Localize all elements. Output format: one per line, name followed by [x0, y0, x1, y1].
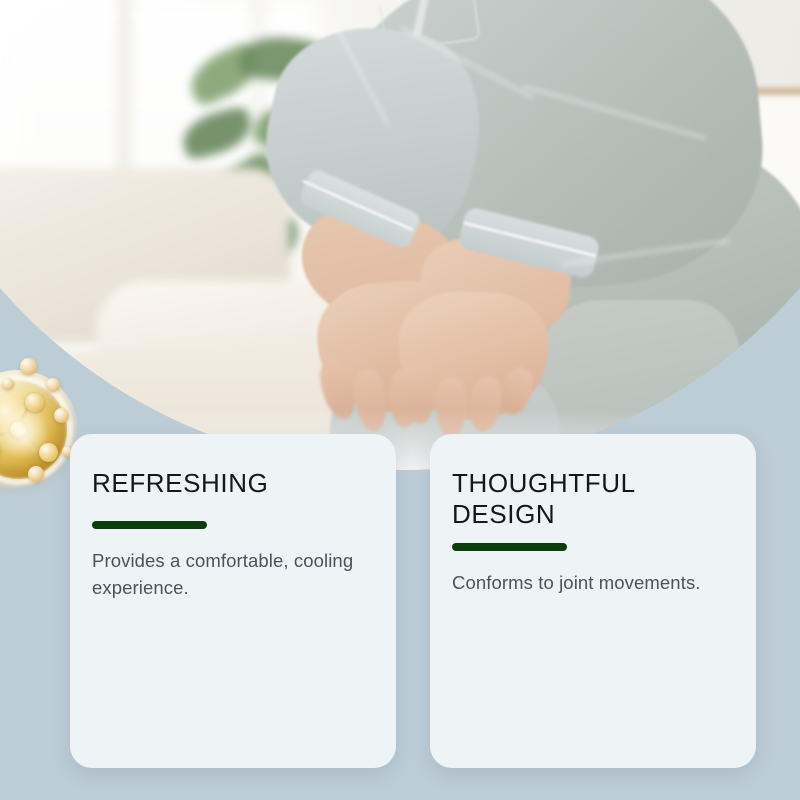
capsule-droplet [28, 466, 44, 482]
molecule-structure-icon [0, 381, 67, 479]
capsule-droplet [54, 408, 69, 423]
feature-card-title: THOUGHTFUL DESIGN [452, 468, 730, 529]
golden-capsule-molecule-icon [0, 370, 78, 490]
capsule-droplet [46, 378, 60, 392]
feature-card-accent-bar [452, 543, 567, 551]
feature-card-thoughtful-design[interactable]: THOUGHTFUL DESIGN Conforms to joint move… [430, 434, 756, 768]
hero-photo-circle-mask [0, 0, 800, 470]
feature-card-accent-bar [92, 521, 207, 529]
photo-person [0, 0, 800, 470]
feature-card-description: Conforms to joint movements. [452, 569, 730, 596]
feature-card-refreshing[interactable]: REFRESHING Provides a comfortable, cooli… [70, 434, 396, 768]
capsule-droplet [20, 358, 37, 375]
feature-card-description: Provides a comfortable, cooling experien… [92, 547, 370, 602]
person-hand-right [396, 289, 550, 422]
feature-card-title: REFRESHING [92, 468, 370, 499]
capsule-droplet [2, 378, 14, 390]
promo-canvas: REFRESHING Provides a comfortable, cooli… [0, 0, 800, 800]
hero-photo [0, 0, 800, 470]
